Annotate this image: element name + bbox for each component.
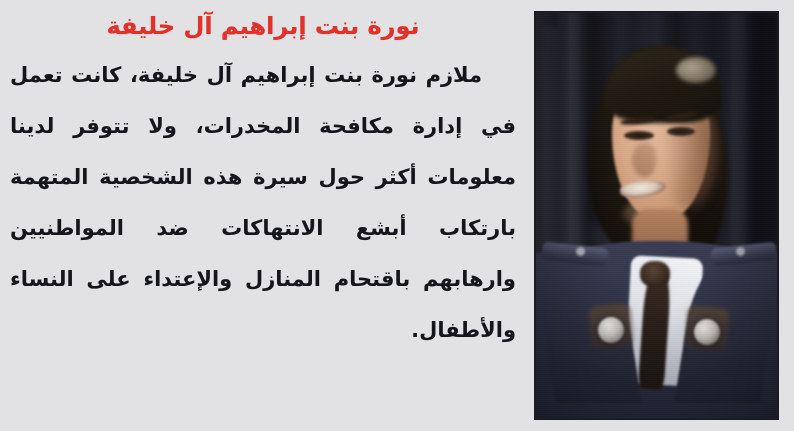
eye-right	[667, 127, 695, 136]
insignia-badge-left	[598, 317, 624, 343]
epaulette-pip-right	[736, 247, 745, 256]
nose	[632, 143, 656, 177]
necktie-knot	[640, 261, 670, 287]
eye-left	[624, 131, 654, 140]
epaulette-pip-left	[576, 247, 585, 256]
portrait-photo-frame	[534, 11, 779, 420]
article-body-text: ملازم نورة بنت إبراهيم آل خليفة، كانت تع…	[0, 41, 526, 407]
insignia-badge-right	[694, 319, 720, 345]
text-column: نورة بنت إبراهيم آل خليفة ملازم نورة بنت…	[0, 0, 526, 431]
page-title: نورة بنت إبراهيم آل خليفة	[0, 0, 526, 41]
portrait-photo	[536, 13, 777, 418]
photo-backdrop-shadow	[752, 13, 777, 253]
hair-accessory	[676, 57, 716, 83]
photo-backdrop-band	[570, 13, 580, 263]
article-page: نورة بنت إبراهيم آل خليفة ملازم نورة بنت…	[0, 0, 794, 431]
